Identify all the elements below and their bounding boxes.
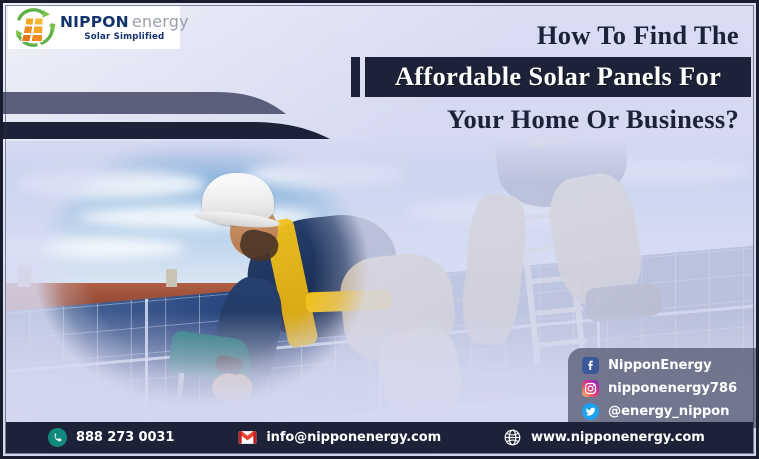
social-handle-instagram: nipponenergy786 [608, 381, 737, 396]
footer-website-text: www.nipponenergy.com [531, 430, 705, 445]
phone-icon [48, 428, 67, 447]
headline-line-3: Your Home Or Business? [351, 106, 745, 133]
social-item-facebook[interactable]: NipponEnergy [582, 354, 759, 377]
logo-tagline: Solar Simplified [60, 33, 189, 42]
solar-panel-recycle-logo-icon [12, 8, 56, 48]
footer-website[interactable]: www.nipponenergy.com [503, 428, 705, 447]
instagram-icon [582, 380, 599, 397]
logo-wordmark: NIPPONenergy Solar Simplified [60, 14, 189, 42]
footer-phone[interactable]: 888 273 0031 [48, 428, 174, 447]
social-item-instagram[interactable]: nipponenergy786 [582, 377, 759, 400]
headline-line-2: Affordable Solar Panels For [395, 63, 721, 90]
gmail-icon [238, 428, 257, 447]
twitter-icon [582, 403, 599, 420]
logo-name-light: energy [132, 12, 189, 31]
headline-highlight-bar: Affordable Solar Panels For [351, 57, 745, 97]
facebook-icon [582, 357, 599, 374]
social-handle-twitter: @energy_nippon [608, 404, 729, 419]
solar-marketing-banner: NIPPONenergy Solar Simplified How To Fin… [0, 0, 759, 459]
social-links-panel: NipponEnergy nipponenergy786 [568, 348, 759, 428]
headline-accent-bar [351, 57, 360, 97]
social-handle-facebook: NipponEnergy [608, 358, 712, 373]
globe-icon [503, 428, 522, 447]
headline-line-1: How To Find The [351, 22, 745, 49]
footer-email-text: info@nipponenergy.com [266, 430, 441, 445]
headline-block: How To Find The Affordable Solar Panels … [351, 22, 745, 132]
decorative-ribbon-light [0, 92, 286, 114]
footer-phone-text: 888 273 0031 [76, 430, 174, 445]
photo-top-fade [6, 141, 753, 181]
decorative-ribbon-dark [0, 122, 330, 139]
social-item-twitter[interactable]: @energy_nippon [582, 400, 759, 423]
footer-email[interactable]: info@nipponenergy.com [238, 428, 441, 447]
brand-logo[interactable]: NIPPONenergy Solar Simplified [8, 6, 180, 49]
contact-footer-bar: 888 273 0031 info@nipponenergy.com [6, 422, 753, 453]
logo-name-bold: NIPPON [60, 13, 129, 31]
